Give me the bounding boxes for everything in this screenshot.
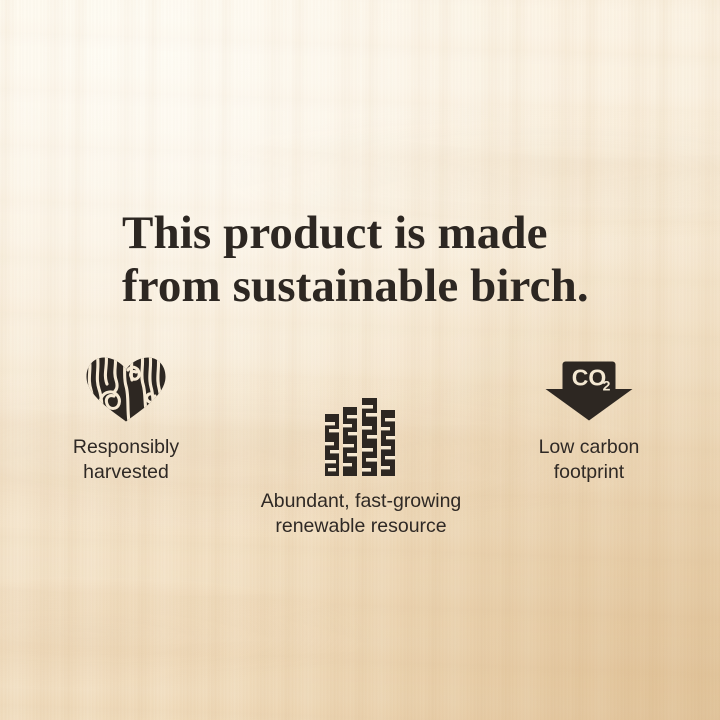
co2-down-arrow-icon: CO 2 [543, 360, 635, 422]
co2-subscript: 2 [603, 378, 611, 394]
feature-list: Responsibly harvested [0, 352, 720, 582]
feature-icon-wrap [35, 360, 217, 422]
feature-caption: Abundant, fast-growing renewable resourc… [250, 489, 472, 538]
sustainable-birch-card: This product is made from sustainable bi… [0, 0, 720, 720]
co2-label: CO [572, 365, 607, 391]
feature-caption: Responsibly harvested [35, 435, 217, 484]
wood-grain-heart-icon [84, 356, 168, 422]
card-content: This product is made from sustainable bi… [0, 0, 720, 720]
feature-icon-wrap [250, 414, 472, 476]
birch-trunks-icon [324, 398, 398, 476]
feature-icon-wrap: CO 2 [498, 360, 680, 422]
feature-responsibly-harvested: Responsibly harvested [35, 360, 217, 484]
feature-caption: Low carbon footprint [498, 435, 680, 484]
page-title: This product is made from sustainable bi… [122, 207, 642, 313]
feature-low-carbon-footprint: CO 2 Low carbon footprint [498, 360, 680, 484]
feature-renewable-resource: Abundant, fast-growing renewable resourc… [250, 414, 472, 538]
